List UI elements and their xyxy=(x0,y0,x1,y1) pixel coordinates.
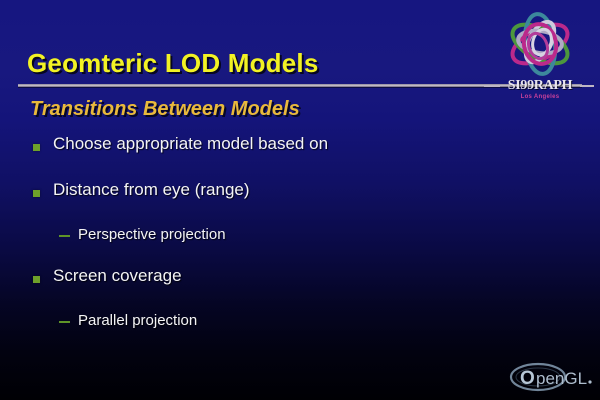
list-item-label: Choose appropriate model based on xyxy=(53,134,328,154)
square-bullet-icon xyxy=(33,144,40,151)
opengl-logo: O penGL xyxy=(508,360,596,394)
svg-text:penGL: penGL xyxy=(536,369,587,388)
list-item-label: Perspective projection xyxy=(78,226,226,244)
bullet-list: Choose appropriate model based on Distan… xyxy=(0,134,600,352)
square-bullet-icon xyxy=(33,190,40,197)
presentation-slide: Geomteric LOD Models Transitions Between… xyxy=(0,0,600,400)
page-title: Geomteric LOD Models xyxy=(27,48,319,79)
square-bullet-icon xyxy=(33,276,40,283)
list-item: Choose appropriate model based on xyxy=(0,134,600,180)
siggraph-logo: SI99RAPH Los Angeles xyxy=(486,8,594,104)
list-item-label: Parallel projection xyxy=(78,312,197,330)
siggraph-location: Los Angeles xyxy=(486,94,594,100)
list-item: Perspective projection xyxy=(0,226,600,266)
list-item: Parallel projection xyxy=(0,312,600,352)
list-item: Screen coverage xyxy=(0,266,600,312)
opengl-logo-icon: O penGL xyxy=(508,360,596,394)
list-item-label: Screen coverage xyxy=(53,266,182,286)
siggraph-wordmark: SI99RAPH xyxy=(486,78,594,94)
svg-text:O: O xyxy=(520,368,535,389)
dash-bullet-icon xyxy=(59,235,70,237)
list-item-label: Distance from eye (range) xyxy=(53,180,250,200)
dash-bullet-icon xyxy=(59,321,70,323)
slide-subtitle: Transitions Between Models xyxy=(30,98,300,121)
list-item: Distance from eye (range) xyxy=(0,180,600,226)
siggraph-rings-icon xyxy=(486,8,594,88)
